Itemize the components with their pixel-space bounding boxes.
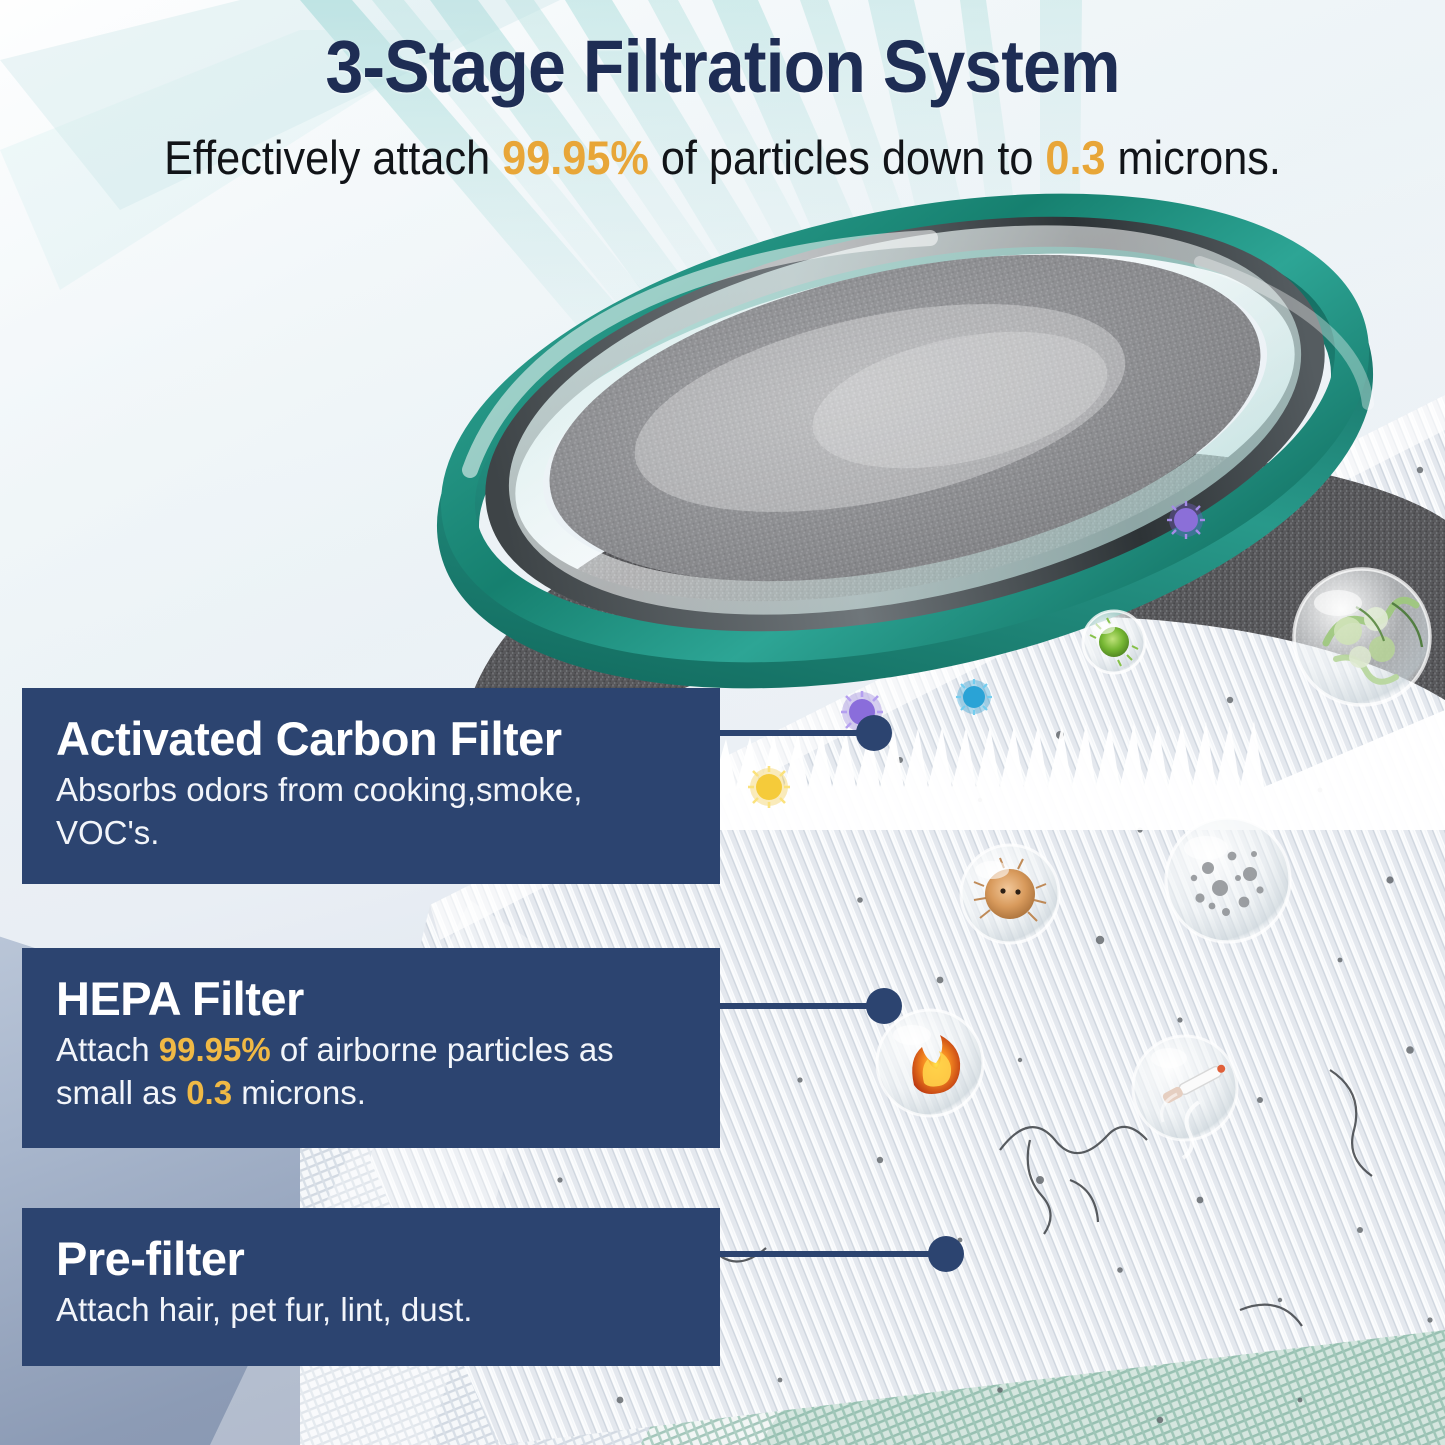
subtitle-part-2: of particles down to: [649, 131, 1046, 184]
connector-dot-activated-carbon: [856, 715, 892, 751]
stage-body-text-3: microns.: [232, 1074, 366, 1111]
airflow-streaks-background: [0, 0, 1445, 760]
stage-body-hepa: Attach 99.95% of airborne particles as s…: [56, 1029, 686, 1113]
stage-body-accent-percent: 99.95%: [159, 1031, 271, 1068]
stage-body-text: Absorbs odors from cooking,smoke, VOC's.: [56, 771, 582, 850]
stage-card-activated-carbon: Activated Carbon Filter Absorbs odors fr…: [22, 688, 720, 884]
stage-body-activated-carbon: Absorbs odors from cooking,smoke, VOC's.: [56, 769, 686, 853]
subtitle-accent-percent: 99.95%: [502, 131, 649, 184]
subtitle-part-1: Effectively attach: [164, 131, 502, 184]
stage-card-pre-filter: Pre-filter Attach hair, pet fur, lint, d…: [22, 1208, 720, 1366]
subtitle-part-3: microns.: [1106, 131, 1281, 184]
stage-title-activated-carbon: Activated Carbon Filter: [56, 714, 686, 763]
connector-line-activated-carbon: [718, 730, 870, 736]
stage-body-text-1: Attach: [56, 1031, 159, 1068]
subtitle-accent-microns: 0.3: [1045, 131, 1105, 184]
page-subtitle: Effectively attach 99.95% of particles d…: [58, 130, 1387, 185]
stage-body-text: Attach hair, pet fur, lint, dust.: [56, 1291, 472, 1328]
stage-title-hepa: HEPA Filter: [56, 974, 686, 1023]
stage-body-pre-filter: Attach hair, pet fur, lint, dust.: [56, 1289, 686, 1331]
page-title: 3-Stage Filtration System: [58, 24, 1387, 109]
stage-card-hepa: HEPA Filter Attach 99.95% of airborne pa…: [22, 948, 720, 1148]
connector-dot-pre-filter: [928, 1236, 964, 1272]
connector-dot-hepa: [866, 988, 902, 1024]
stage-body-accent-microns: 0.3: [186, 1074, 232, 1111]
connector-line-hepa: [718, 1003, 878, 1009]
stage-title-pre-filter: Pre-filter: [56, 1234, 686, 1283]
connector-line-pre-filter: [718, 1251, 940, 1257]
infographic-canvas: 3-Stage Filtration System Effectively at…: [0, 0, 1445, 1445]
